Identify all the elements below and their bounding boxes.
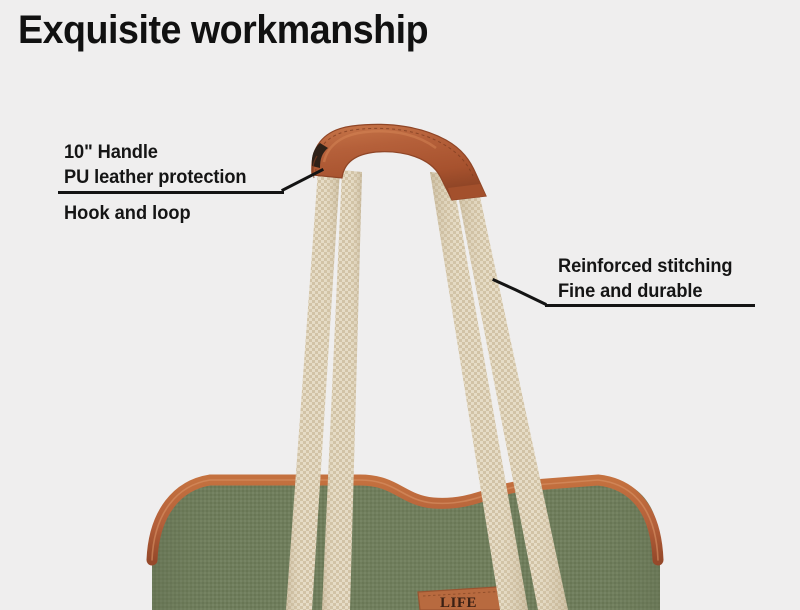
callout-right: Reinforced stitching Fine and durable <box>558 254 740 304</box>
callout-right-line1: Reinforced stitching <box>558 254 732 279</box>
leader-line-right <box>494 280 545 304</box>
leader-line-left <box>283 170 322 190</box>
callout-left-line3: Hook and loop <box>64 201 191 226</box>
callout-right-line2: Fine and durable <box>558 279 732 304</box>
callout-left-line2: PU leather protection <box>64 165 246 190</box>
callout-left-rule <box>58 191 284 194</box>
callout-right-rule <box>545 304 755 307</box>
product-infographic: Exquisite workmanship <box>0 0 800 610</box>
callout-left-line1: 10" Handle <box>64 140 246 165</box>
callout-left: 10" Handle PU leather protection Hook an… <box>64 140 254 190</box>
